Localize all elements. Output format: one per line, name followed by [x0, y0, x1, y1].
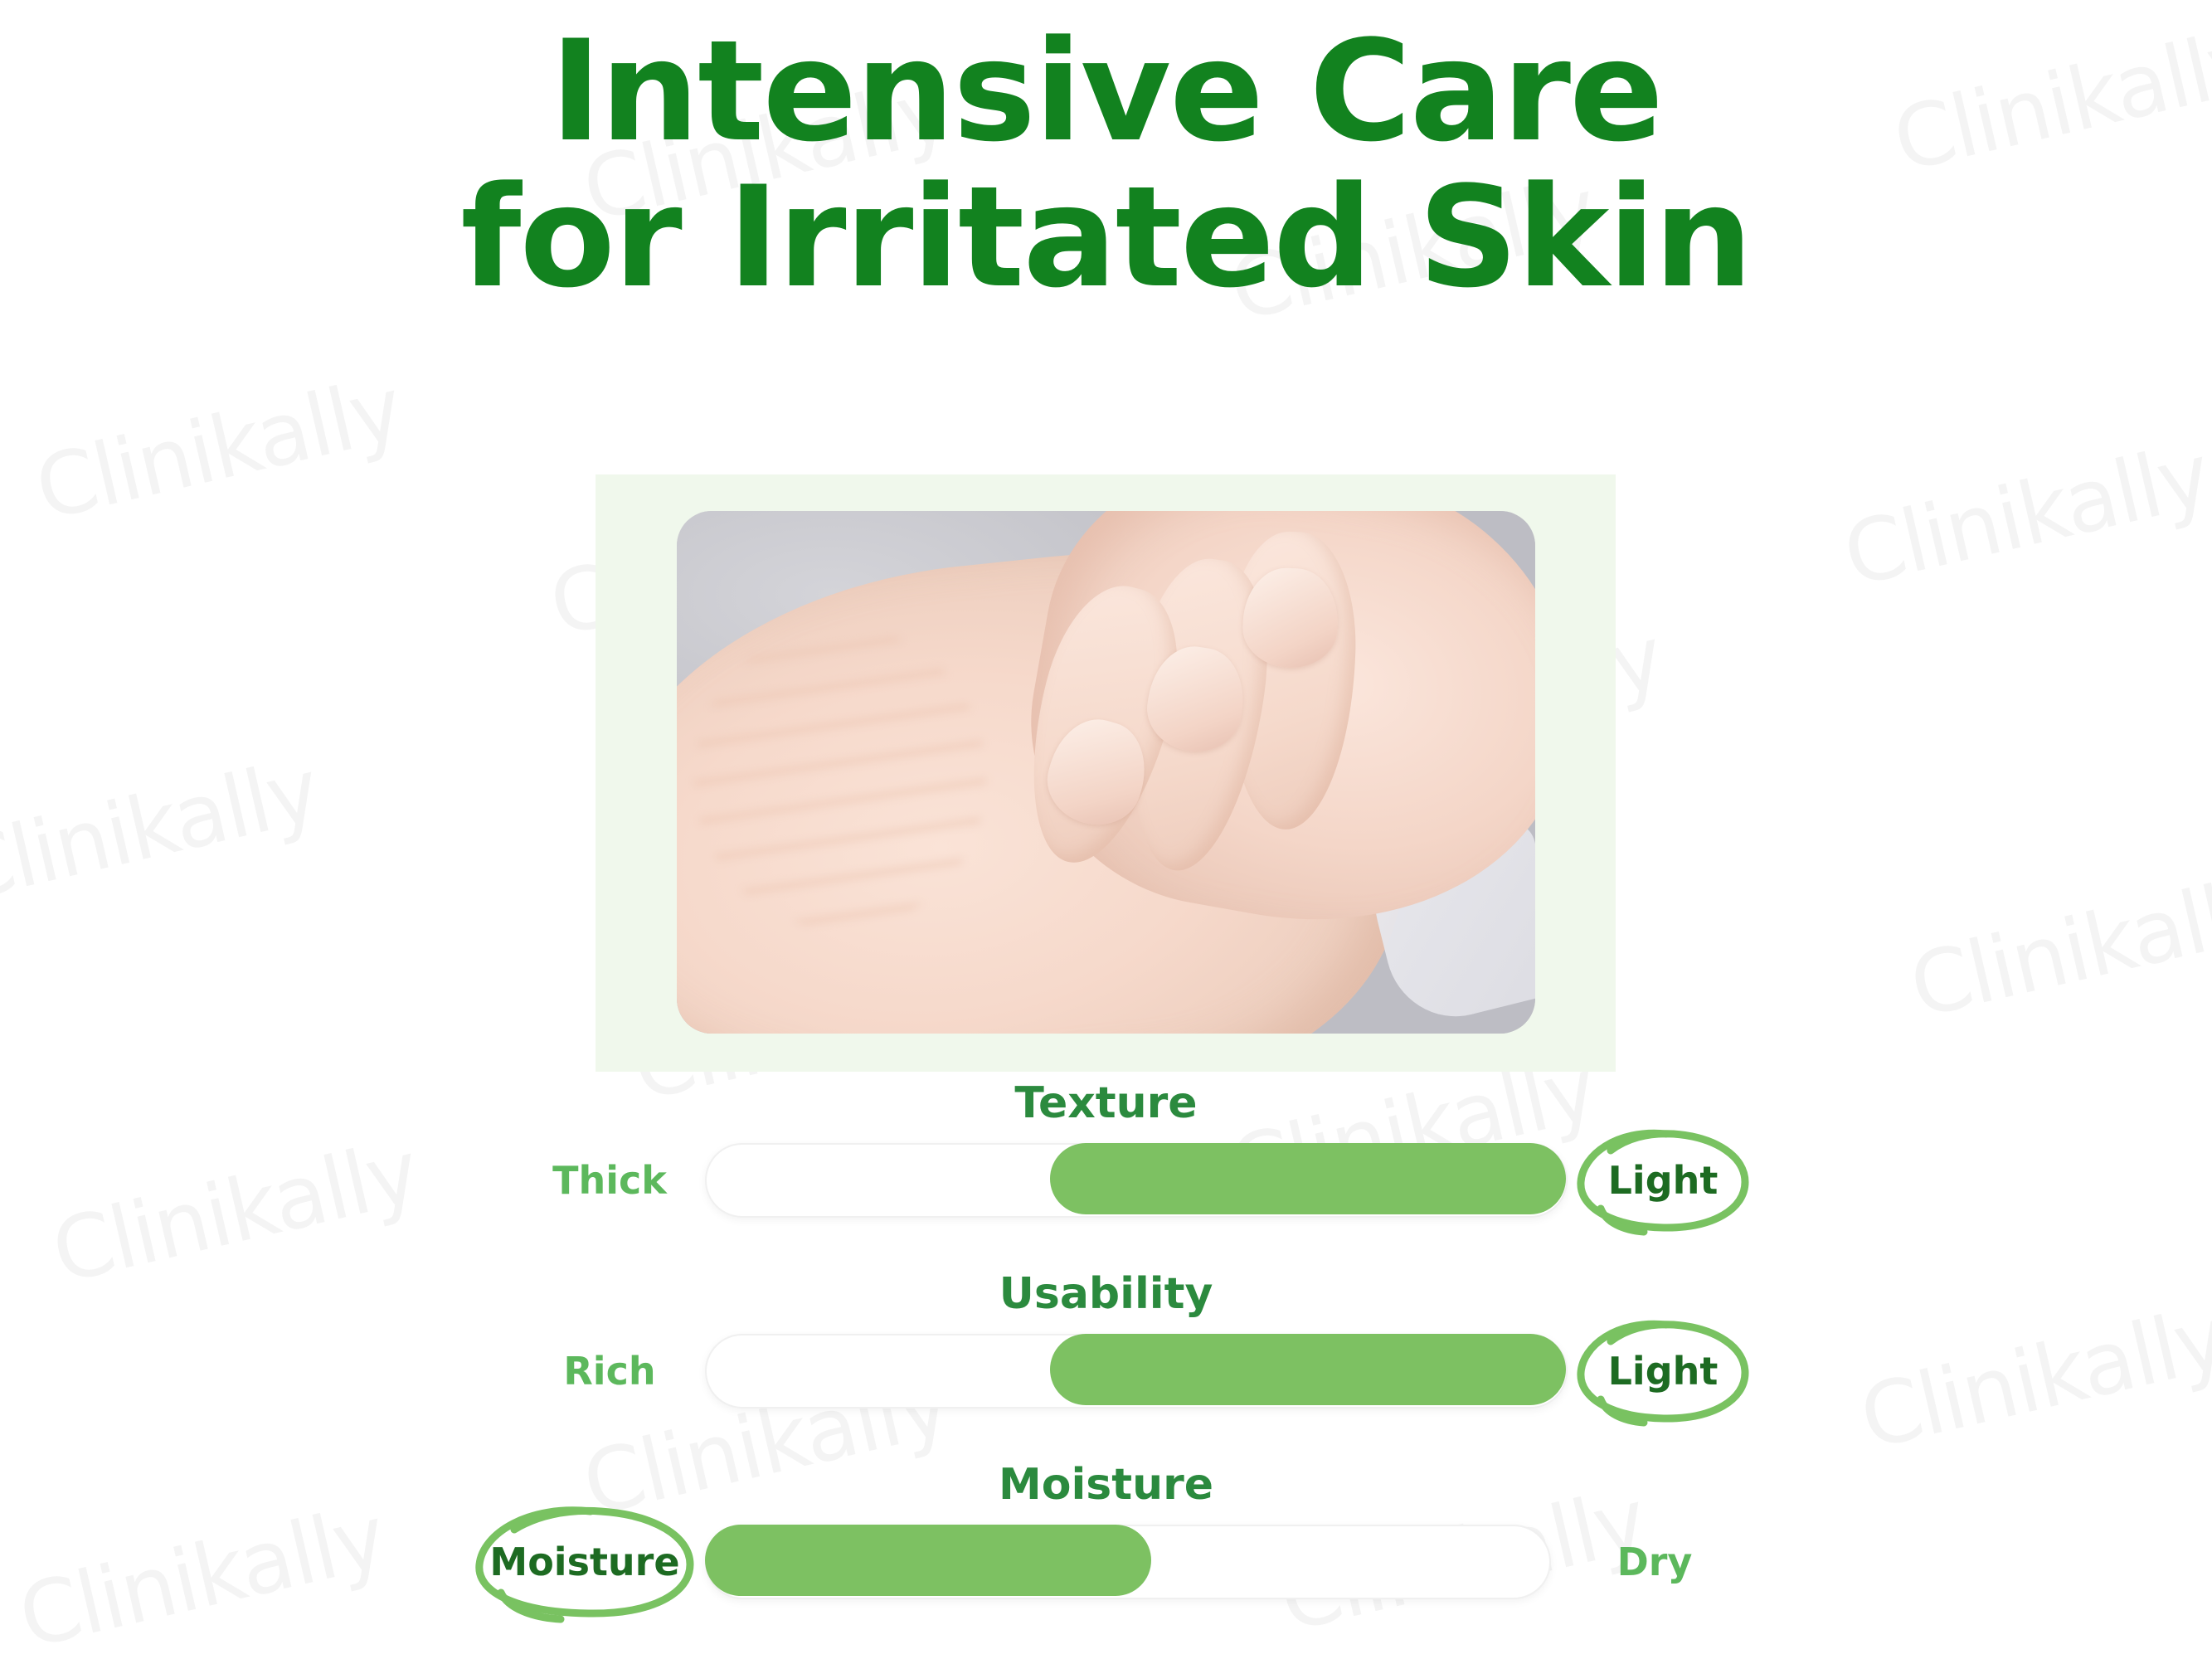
slider-track-moisture[interactable] [705, 1525, 1551, 1599]
slider-selected-marker-usability: Light [1597, 1340, 1730, 1402]
slider-title-usability: Usability [0, 1269, 2212, 1319]
watermark-text: Clinikally [27, 358, 411, 539]
hero-photo [677, 511, 1535, 1034]
slider-title-moisture: Moisture [0, 1460, 2212, 1510]
slider-fill-texture [1050, 1143, 1566, 1214]
page-title-line-2: for Irritated Skin [0, 164, 2212, 310]
slider-right-label-usability: Light [1568, 1340, 1758, 1402]
page-title-line-1: Intensive Care [0, 18, 2212, 164]
slider-track-usability[interactable] [705, 1334, 1568, 1408]
slider-selected-marker-texture: Light [1597, 1150, 1730, 1211]
slider-right-label-moisture: Dry [1551, 1540, 1758, 1584]
slider-title-texture: Texture [0, 1078, 2212, 1128]
slider-left-label-usability: Rich [514, 1349, 705, 1394]
photo-knuckles [694, 626, 986, 929]
slider-selected-text-usability: Light [1608, 1349, 1719, 1394]
watermark-text: Clinikally [1835, 424, 2212, 606]
slider-row-moisture[interactable]: Moisture Dry [464, 1516, 1758, 1608]
attribute-sliders: Texture Thick Light Usability Rich [0, 1078, 2212, 1659]
slider-fill-usability [1050, 1334, 1566, 1405]
watermark-text: Clinikally [0, 739, 328, 921]
slider-row-texture[interactable]: Thick Light [514, 1135, 1758, 1226]
slider-group-texture: Texture Thick Light [0, 1078, 2212, 1277]
slider-right-label-texture: Light [1568, 1150, 1758, 1211]
slider-selected-text-texture: Light [1608, 1158, 1719, 1203]
slider-track-texture[interactable] [705, 1143, 1568, 1218]
slider-selected-marker-moisture: Moisture [478, 1531, 691, 1593]
slider-selected-text-moisture: Moisture [489, 1540, 679, 1584]
slider-group-moisture: Moisture Moisture Dry [0, 1460, 2212, 1659]
watermark-text: Clinikally [1901, 855, 2212, 1037]
hero-panel [596, 474, 1616, 1072]
page-title: Intensive Care for Irritated Skin [0, 18, 2212, 311]
slider-group-usability: Usability Rich Light [0, 1269, 2212, 1468]
slider-left-label-texture: Thick [514, 1158, 705, 1203]
slider-fill-moisture [705, 1525, 1151, 1596]
slider-left-label-moisture: Moisture [464, 1531, 705, 1593]
slider-row-usability[interactable]: Rich Light [514, 1326, 1758, 1417]
